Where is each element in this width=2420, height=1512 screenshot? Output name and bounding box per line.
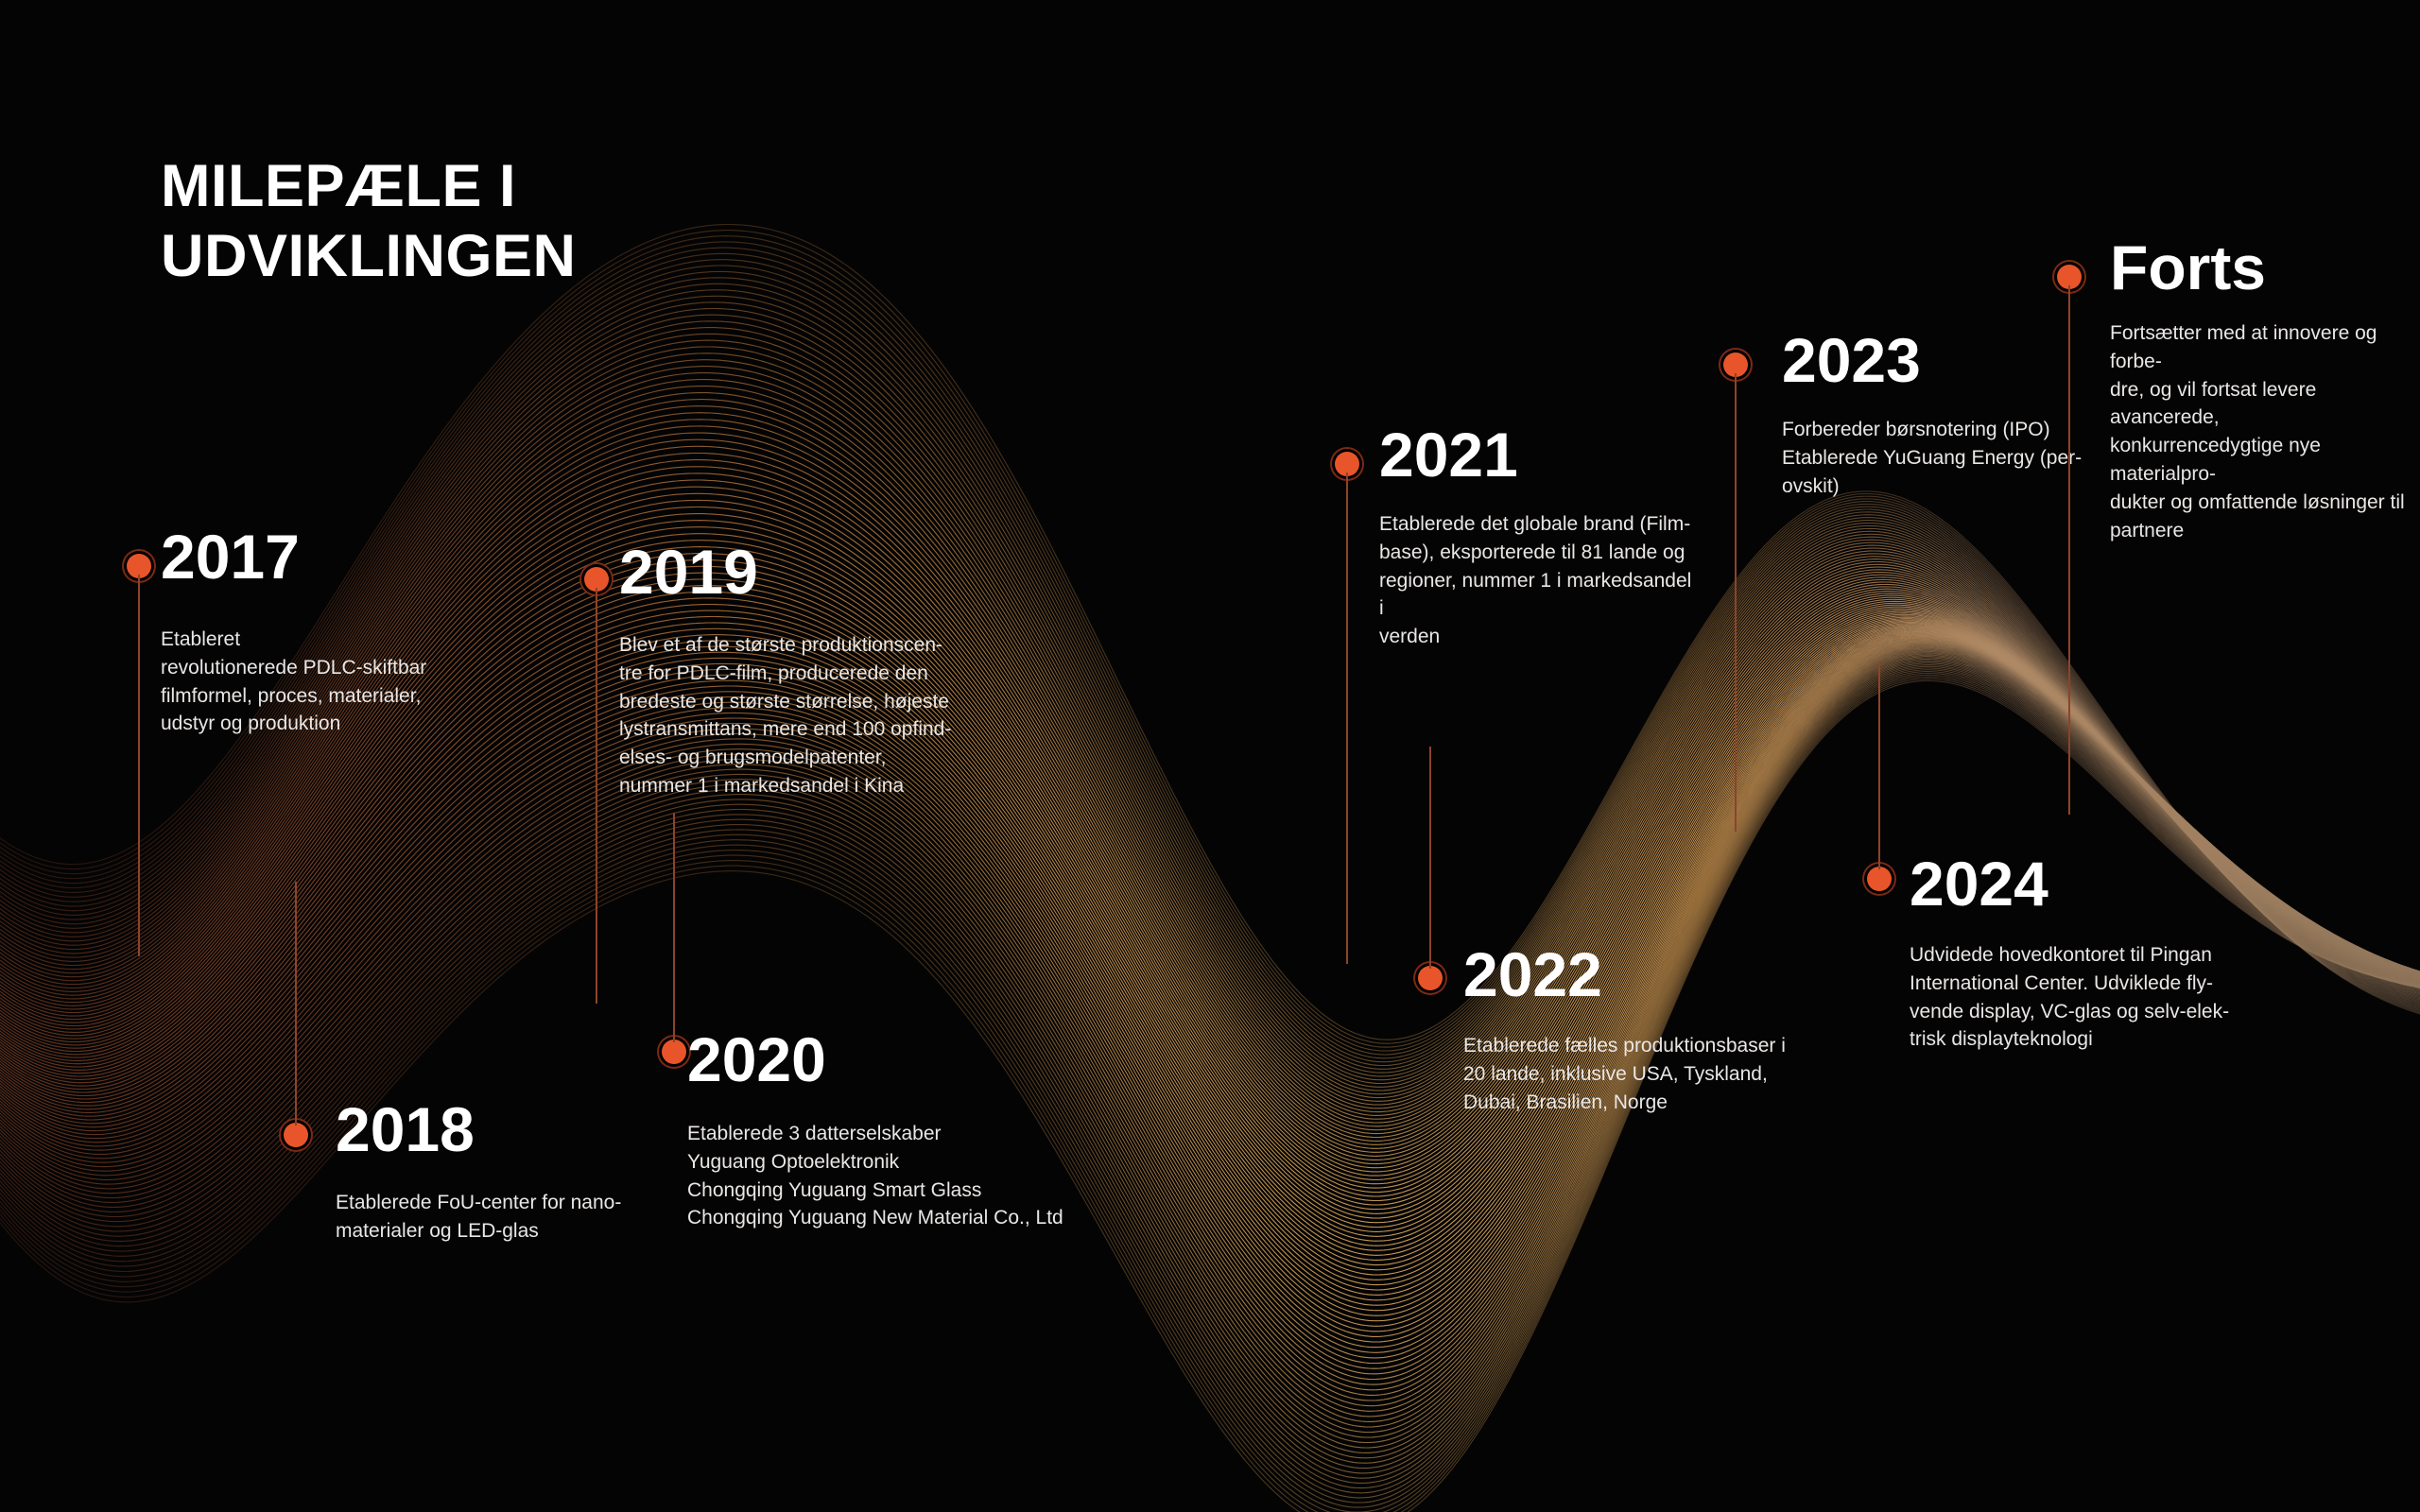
milestone-stem-forts bbox=[2068, 285, 2070, 815]
milestone-stem-2024 bbox=[1878, 661, 1880, 869]
milestone-body-2024: Udvidede hovedkontoret til Pingan Intern… bbox=[1910, 941, 2231, 1054]
page-title: MILEPÆLE I UDVIKLINGEN bbox=[161, 151, 577, 292]
milestone-stem-2017 bbox=[138, 575, 140, 956]
milestone-stem-2022 bbox=[1429, 747, 1431, 969]
milestone-stem-2021 bbox=[1346, 472, 1348, 964]
milestone-year-2022: 2022 bbox=[1463, 943, 1602, 1005]
milestone-body-2017: Etableret revolutionerede PDLC-skiftbar … bbox=[161, 626, 473, 738]
milestone-dot-2018[interactable] bbox=[284, 1123, 308, 1147]
milestone-body-2021: Etablerede det globale brand (Film- base… bbox=[1379, 510, 1701, 651]
milestone-year-2020: 2020 bbox=[687, 1028, 826, 1091]
milestone-stem-2020 bbox=[673, 813, 675, 1042]
milestone-year-forts: Forts bbox=[2110, 236, 2266, 299]
milestone-dot-2020[interactable] bbox=[662, 1039, 686, 1064]
milestone-body-forts: Fortsætter med at innovere og forbe- dre… bbox=[2110, 319, 2420, 545]
milestone-body-2023: Forbereder børsnotering (IPO) Etablerede… bbox=[1782, 416, 2084, 500]
milestone-stem-2018 bbox=[295, 882, 297, 1125]
timeline-infographic: MILEPÆLE I UDVIKLINGEN 2017 Etableret re… bbox=[0, 0, 2420, 1512]
milestone-year-2024: 2024 bbox=[1910, 852, 2048, 915]
milestone-body-2019: Blev et af de største produktionscen- tr… bbox=[619, 631, 969, 800]
milestone-year-2023: 2023 bbox=[1782, 329, 1921, 391]
milestone-stem-2019 bbox=[596, 588, 597, 1004]
milestone-dot-2024[interactable] bbox=[1867, 867, 1892, 891]
milestone-body-2018: Etablerede FoU-center for nano- material… bbox=[336, 1189, 657, 1246]
milestone-year-2018: 2018 bbox=[336, 1098, 475, 1160]
milestone-stem-2023 bbox=[1735, 373, 1737, 832]
milestone-year-2021: 2021 bbox=[1379, 423, 1518, 486]
milestone-year-2019: 2019 bbox=[619, 541, 758, 603]
milestone-body-2020: Etablerede 3 datterselskaber Yuguang Opt… bbox=[687, 1120, 1084, 1232]
milestone-dot-2022[interactable] bbox=[1418, 966, 1443, 990]
milestone-year-2017: 2017 bbox=[161, 525, 300, 588]
milestone-body-2022: Etablerede fælles produktionsbaser i 20 … bbox=[1463, 1032, 1794, 1116]
